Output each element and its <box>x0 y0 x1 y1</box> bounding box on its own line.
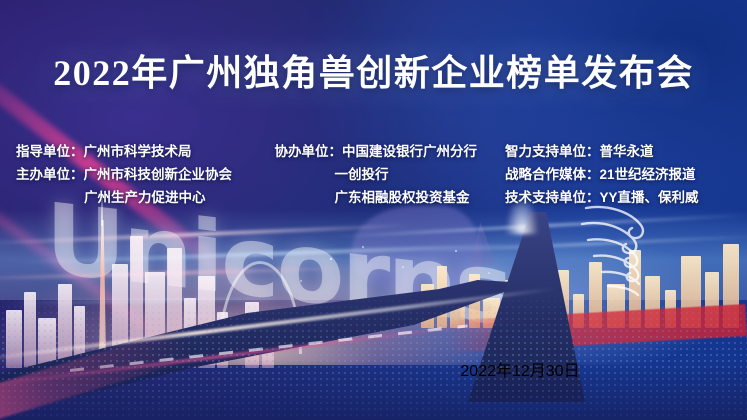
event-poster: Unicorns <box>0 0 747 420</box>
star-icon <box>300 280 302 282</box>
star-icon <box>488 272 490 274</box>
perspective-road <box>0 190 747 420</box>
credits-block: 指导单位： 广州市科学技术局 主办单位： 广州市科技创新企业协会 广州生产力促进… <box>0 142 747 208</box>
unicorns-watermark: Unicorns <box>45 190 510 340</box>
light-streak-icon <box>330 214 747 238</box>
credit-row: 战略合作媒体： 21世纪经济报道 <box>505 165 731 185</box>
credit-row: 一创投行 <box>275 165 505 185</box>
light-streak-icon <box>420 235 747 252</box>
light-streak-icon <box>20 243 540 264</box>
credit-value: 广州市科学技术局 <box>84 142 192 162</box>
arch-bridge-icon <box>218 261 302 354</box>
credit-row: 广东相融股权投资基金 <box>275 188 505 208</box>
credit-row: 技术支持单位： YY直播、保利威 <box>505 188 731 208</box>
skyline-right <box>417 236 747 328</box>
light-streak-icon <box>0 266 360 280</box>
credit-value: 中国建设银行广州分行 <box>342 142 477 162</box>
sky-band <box>0 210 747 300</box>
light-streak-icon <box>0 224 410 245</box>
credit-value: YY直播、保利威 <box>600 188 699 208</box>
canton-tower-icon <box>96 220 109 368</box>
star-icon <box>402 266 404 268</box>
credit-label: 战略合作媒体： <box>505 165 600 185</box>
credit-row: 指导单位： 广州市科学技术局 <box>16 142 266 162</box>
credits-column-left: 指导单位： 广州市科学技术局 主办单位： 广州市科技创新企业协会 广州生产力促进… <box>16 142 266 208</box>
light-streak-icon <box>0 297 300 304</box>
pink-corner-streak-icon <box>0 326 197 420</box>
credit-value: 广州市科技创新企业协会 <box>84 165 233 185</box>
credits-column-right: 智力支持单位： 普华永道 战略合作媒体： 21世纪经济报道 技术支持单位： YY… <box>505 142 731 208</box>
horizon-glow <box>0 215 747 365</box>
credit-label: 指导单位： <box>16 142 84 162</box>
credit-row: 智力支持单位： 普华永道 <box>505 142 731 162</box>
unicorn-silhouette-icon <box>352 205 482 295</box>
credit-label: 智力支持单位： <box>505 142 600 162</box>
credit-value: 普华永道 <box>600 142 654 162</box>
credit-value: 广州生产力促进中心 <box>84 188 206 208</box>
star-icon <box>455 250 457 252</box>
credit-row: 广州生产力促进中心 <box>16 188 266 208</box>
guangzhou-skyline-left <box>0 218 300 368</box>
road-edge-highlight <box>0 287 556 364</box>
event-date: 2022年12月30日 <box>460 363 579 380</box>
credit-value: 广东相融股权投资基金 <box>335 188 470 208</box>
star-icon <box>330 258 332 260</box>
event-date-wrapper: 2022年12月30日 <box>420 357 620 381</box>
credit-value: 21世纪经济报道 <box>600 165 696 185</box>
unicorn-horn-icon <box>470 222 496 268</box>
road-surface <box>0 280 580 420</box>
credit-label: 技术支持单位： <box>505 188 600 208</box>
credit-value: 一创投行 <box>335 165 389 185</box>
dot-grid-floor <box>0 292 747 420</box>
credit-label: 主办单位： <box>16 165 84 185</box>
page-title: 2022年广州独角兽创新企业榜单发布会 <box>0 44 747 96</box>
red-accent-band <box>446 304 747 353</box>
credit-row: 主办单位： 广州市科技创新企业协会 <box>16 165 266 185</box>
bottom-shade <box>0 360 747 420</box>
credits-column-middle: 协办单位： 中国建设银行广州分行 一创投行 广东相融股权投资基金 <box>275 142 505 208</box>
chinese-cloud-motif-icon <box>578 198 718 298</box>
star-icon <box>362 246 364 248</box>
credit-label: 协办单位： <box>275 142 343 162</box>
credit-row: 协办单位： 中国建设银行广州分行 <box>275 142 505 162</box>
road-lane-markings <box>70 324 468 372</box>
